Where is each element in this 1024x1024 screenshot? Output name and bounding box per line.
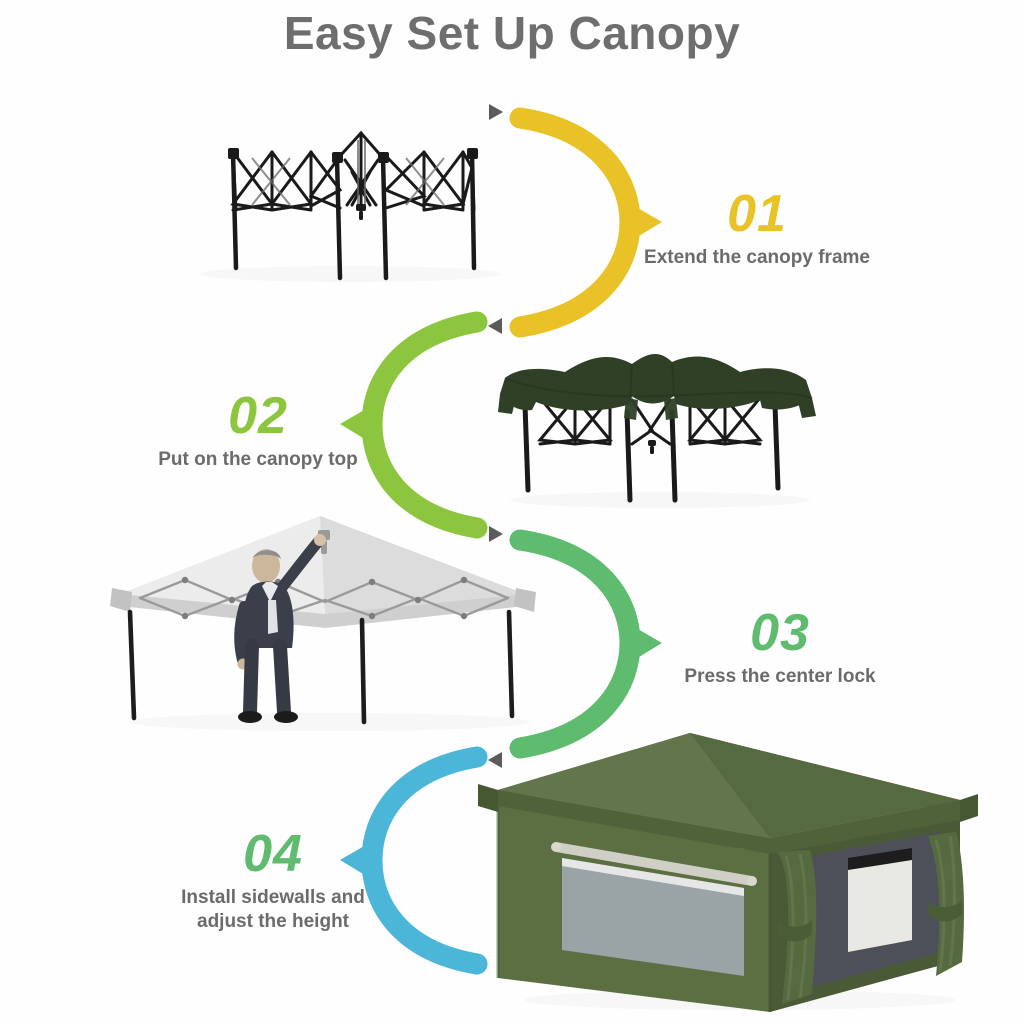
infographic-page: Easy Set Up Canopy [0,0,1024,1024]
step-01-number: 01 [612,188,902,240]
step-01-caption: Extend the canopy frame [612,246,902,270]
step-04-number: 04 [128,828,418,880]
step-04-text-block: 04 Install sidewalls and adjust the heig… [128,828,418,934]
illustration-canopy-top [498,354,816,508]
step-02-caption: Put on the canopy top [118,448,398,472]
step-02-text-block: 02 Put on the canopy top [118,390,398,472]
step-01-text-block: 01 Extend the canopy frame [612,188,902,270]
step-04-marker-triangle [488,752,502,768]
illustration-canopy-frame [200,133,500,282]
step-03-text-block: 03 Press the center lock [640,607,920,689]
step-04-caption: Install sidewalls and adjust the height [128,886,418,934]
step-01-marker-triangle [489,104,503,120]
step-03-caption: Press the center lock [640,665,920,689]
illustration-center-lock [110,516,536,731]
step-03-marker-triangle [489,526,503,542]
step-02-number: 02 [118,390,398,442]
step-03-number: 03 [640,607,920,659]
illustration-canopy-sidewalls [478,733,978,1012]
step-02-marker-triangle [488,318,502,334]
